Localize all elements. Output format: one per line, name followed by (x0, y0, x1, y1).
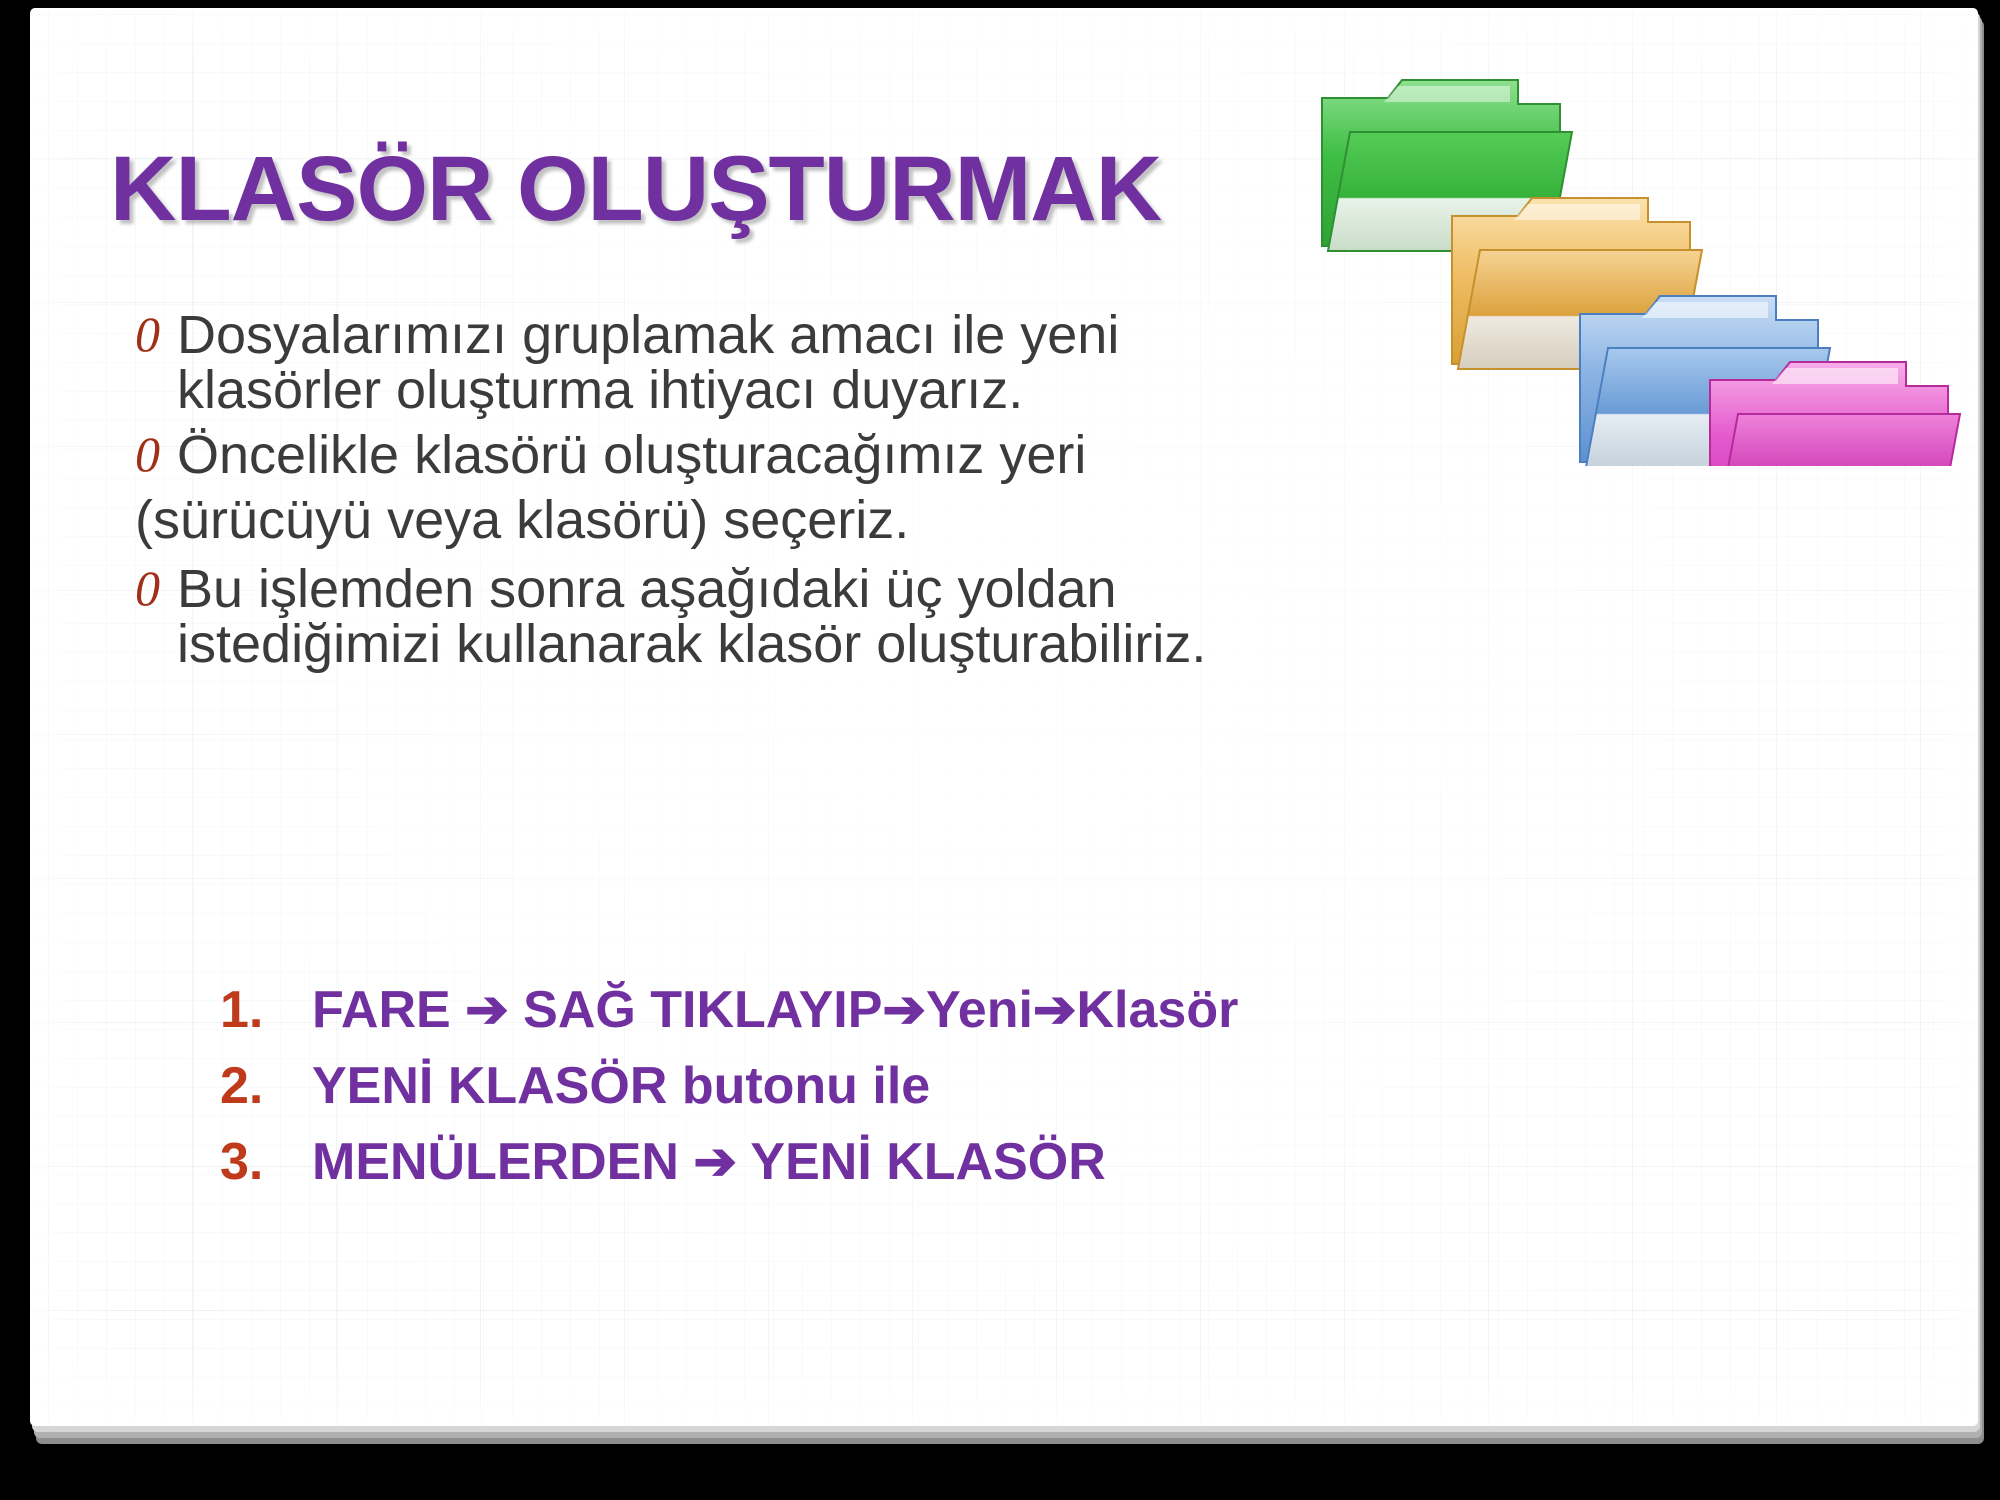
bullet-marker-icon: 0 (135, 428, 177, 481)
list-item: 3. MENÜLERDEN ➔ YENİ KLASÖR (220, 1132, 1720, 1192)
list-item-number: 2. (220, 1056, 312, 1116)
page-title: KLASÖR OLUŞTURMAK (110, 143, 1161, 235)
list-item-label: MENÜLERDEN ➔ YENİ KLASÖR (312, 1132, 1720, 1192)
bullet-line: istediğimizi kullanarak klasör oluşturab… (177, 614, 1206, 674)
bullet-item: 0 Öncelikle klasörü oluşturacağımız yeri (135, 428, 1535, 483)
bullet-text: Dosyalarımızı gruplamak amacı ile yeni k… (177, 308, 1535, 418)
list-item-label: FARE ➔ SAĞ TIKLAYIP➔Yeni➔Klasör (312, 980, 1720, 1040)
bullet-marker-icon: 0 (135, 308, 177, 361)
bullet-marker-icon: 0 (135, 562, 177, 615)
slide-content: KLASÖR OLUŞTURMAK (30, 8, 1978, 1426)
bullet-item: 0 Bu işlemden sonra aşağıdaki üç yoldan … (135, 562, 1535, 672)
plain-text-line: (sürücüyü veya klasörü) seçeriz. (135, 493, 1535, 548)
list-item-number: 3. (220, 1132, 312, 1192)
list-item: 1. FARE ➔ SAĞ TIKLAYIP➔Yeni➔Klasör (220, 980, 1720, 1040)
body-bullet-list: 0 Dosyalarımızı gruplamak amacı ile yeni… (135, 308, 1535, 682)
bullet-line: Bu işlemden sonra aşağıdaki üç yoldan (177, 559, 1117, 619)
list-item-label: YENİ KLASÖR butonu ile (312, 1056, 1720, 1116)
slide-frame: KLASÖR OLUŞTURMAK (0, 0, 2000, 1500)
bullet-item: 0 Dosyalarımızı gruplamak amacı ile yeni… (135, 308, 1535, 418)
list-item-number: 1. (220, 980, 312, 1040)
bullet-line: klasörler oluşturma ihtiyacı duyarız. (177, 360, 1023, 420)
bullet-line: Dosyalarımızı gruplamak amacı ile yeni (177, 305, 1119, 365)
bullet-text: Bu işlemden sonra aşağıdaki üç yoldan is… (177, 562, 1535, 672)
bullet-text: Öncelikle klasörü oluşturacağımız yeri (177, 428, 1535, 483)
list-item: 2. YENİ KLASÖR butonu ile (220, 1056, 1720, 1116)
numbered-method-list: 1. FARE ➔ SAĞ TIKLAYIP➔Yeni➔Klasör 2. YE… (220, 980, 1720, 1208)
slide-sheet: KLASÖR OLUŞTURMAK (30, 8, 1978, 1426)
